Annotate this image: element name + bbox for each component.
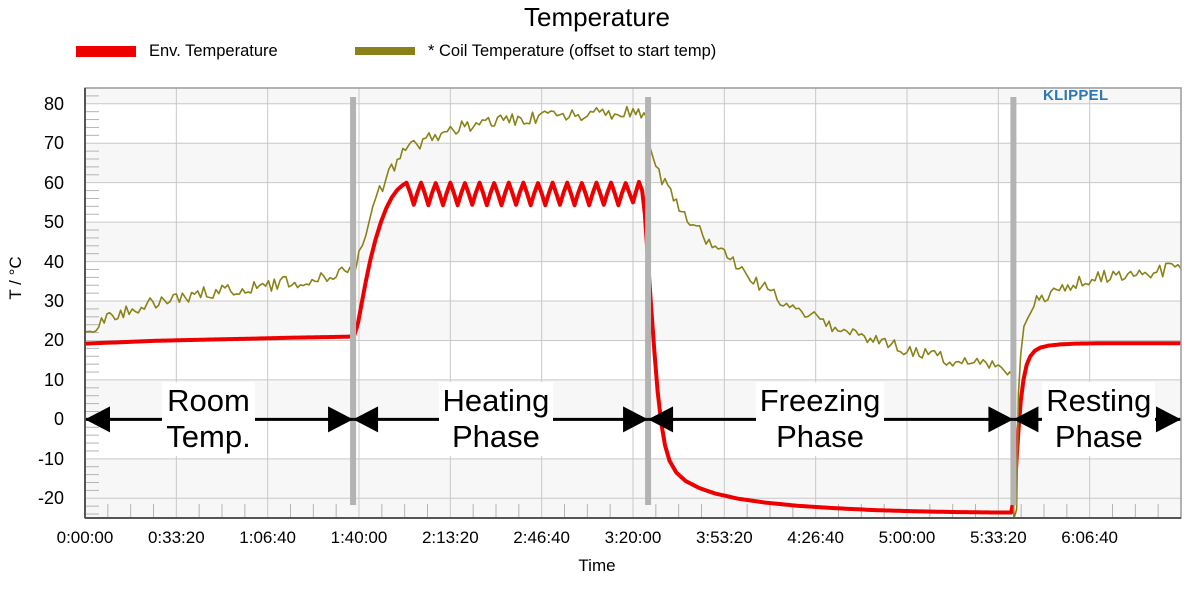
klippel-watermark: KLIPPEL — [1043, 87, 1108, 104]
y-tick-label: 60 — [18, 174, 64, 192]
phase-label-room-temp: RoomTemp. — [162, 382, 254, 456]
phase-label-resting-phase: RestingPhase — [1042, 382, 1155, 456]
y-tick-label: 10 — [18, 371, 64, 389]
phase-label-freezing-phase: FreezingPhase — [756, 382, 885, 456]
phase-label-line: Temp. — [166, 419, 250, 455]
x-tick-label: 6:06:40 — [1035, 528, 1145, 547]
y-axis-label: T / °C — [6, 248, 26, 308]
y-tick-label: -20 — [18, 489, 64, 507]
y-tick-label: -10 — [18, 450, 64, 468]
y-tick-label: 70 — [18, 134, 64, 152]
phase-label-line: Resting — [1046, 383, 1151, 419]
y-tick-label: 80 — [18, 95, 64, 113]
phase-label-line: Phase — [443, 419, 550, 455]
y-tick-label: 0 — [18, 410, 64, 428]
phase-label-heating-phase: HeatingPhase — [439, 382, 554, 456]
plot-canvas — [0, 0, 1194, 594]
phase-label-line: Heating — [443, 383, 550, 419]
phase-label-line: Freezing — [760, 383, 881, 419]
y-tick-label: 20 — [18, 331, 64, 349]
phase-label-line: Room — [166, 383, 250, 419]
temperature-chart-figure: Temperature Env. Temperature * Coil Temp… — [0, 0, 1194, 594]
y-tick-label: 50 — [18, 213, 64, 231]
phase-label-line: Phase — [1046, 419, 1151, 455]
x-axis-label: Time — [0, 556, 1194, 576]
plot-area: 80706050403020100-10-200:00:000:33:201:0… — [0, 0, 1194, 594]
phase-label-line: Phase — [760, 419, 881, 455]
